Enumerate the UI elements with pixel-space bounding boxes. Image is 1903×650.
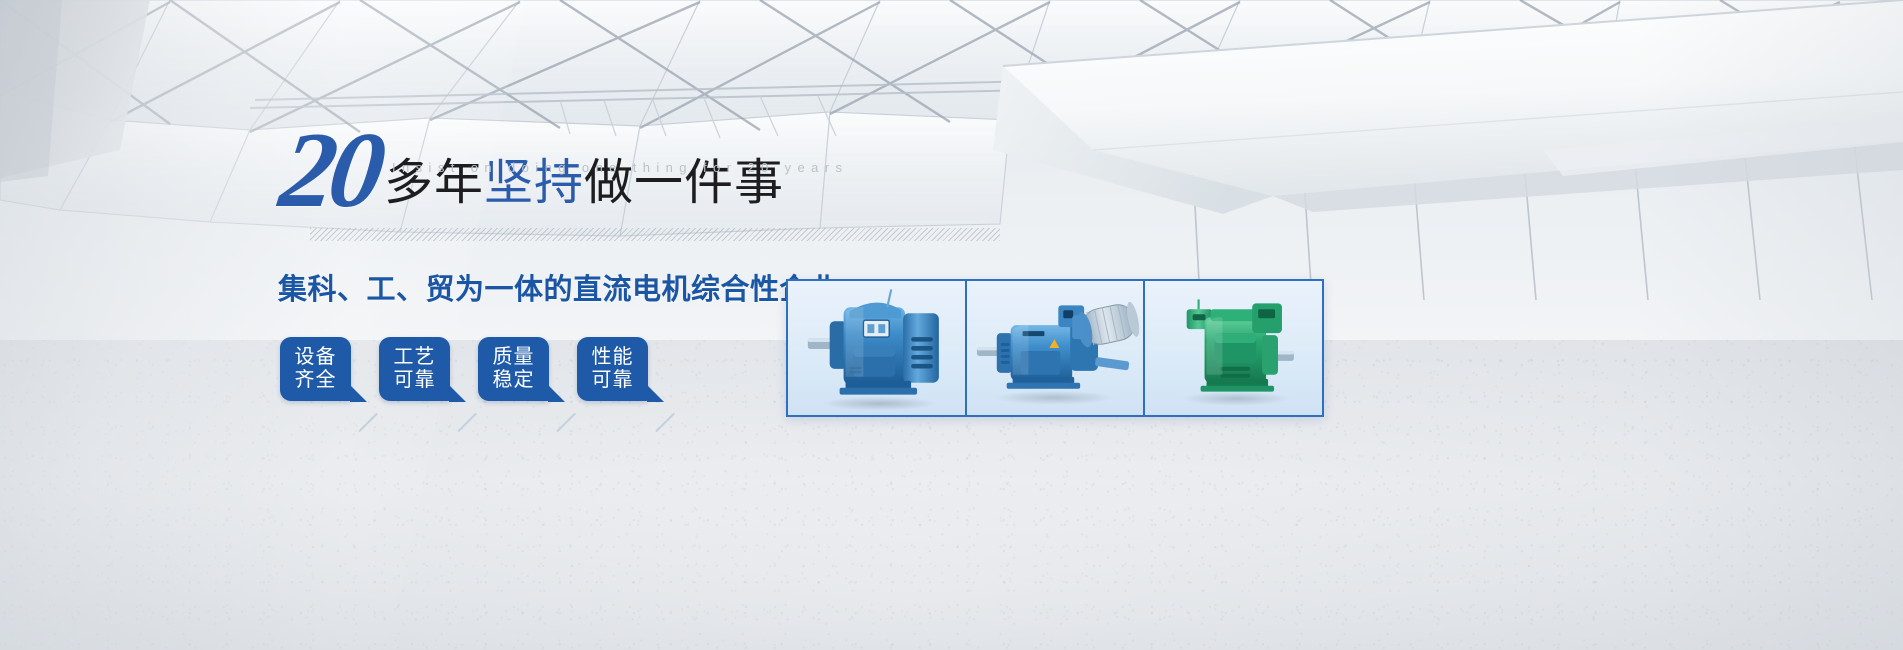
dc-motor-blue-large-icon xyxy=(788,281,965,415)
banner-content: 20 多年坚持做一件事 Insist on doing one thing fo… xyxy=(0,0,1903,650)
badge-line-1: 设备 xyxy=(295,346,337,369)
feature-badge[interactable]: 工艺 可靠 xyxy=(379,337,450,401)
english-tagline: Insist on doing one thing for 20 years xyxy=(392,160,848,175)
product-cell[interactable] xyxy=(965,281,1144,415)
dc-motor-blue-blower-icon xyxy=(967,281,1144,415)
badge-line-2: 稳定 xyxy=(493,369,535,392)
badge-line-1: 质量 xyxy=(493,346,535,369)
badge-line-2: 可靠 xyxy=(592,369,634,392)
badge-streak xyxy=(358,413,378,433)
feature-badge[interactable]: 设备 齐全 xyxy=(280,337,351,401)
badge-streak xyxy=(655,413,675,433)
feature-badge[interactable]: 性能 可靠 xyxy=(577,337,648,401)
badge-line-1: 性能 xyxy=(592,346,634,369)
subheading: 集科、工、贸为一体的直流电机综合性企业 xyxy=(278,266,839,308)
badge-streak xyxy=(556,413,576,433)
hatched-divider xyxy=(310,228,1000,241)
product-cell[interactable] xyxy=(1143,281,1322,415)
headline-number: 20 xyxy=(276,128,384,214)
product-cell[interactable] xyxy=(788,281,965,415)
feature-badge[interactable]: 质量 稳定 xyxy=(478,337,549,401)
badge-streak xyxy=(457,413,477,433)
badge-line-2: 可靠 xyxy=(394,369,436,392)
badge-line-1: 工艺 xyxy=(394,346,436,369)
feature-badge-list: 设备 齐全 工艺 可靠 质量 稳定 性能 可靠 xyxy=(280,337,648,401)
badge-line-2: 齐全 xyxy=(295,369,337,392)
hero-banner: 20 多年坚持做一件事 Insist on doing one thing fo… xyxy=(0,0,1903,650)
dc-motor-green-icon xyxy=(1145,281,1322,415)
product-showcase-panel xyxy=(786,279,1324,417)
